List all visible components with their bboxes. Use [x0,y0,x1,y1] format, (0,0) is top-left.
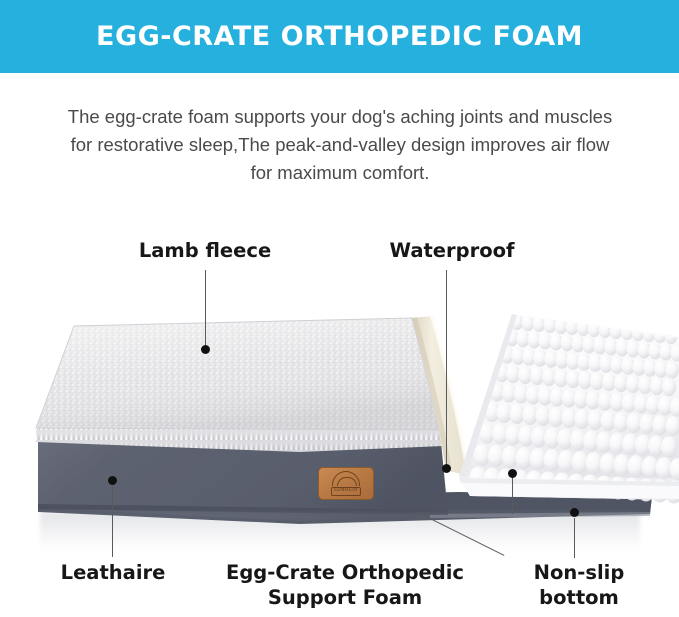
leader-line-lamb-fleece [205,270,206,350]
brand-tag: SUNHEIR [318,467,374,500]
callout-dot-lamb-fleece [201,345,210,354]
callout-label-waterproof: Waterproof [372,238,532,263]
callout-label-non-slip-bottom: Non-slip bottom [512,560,646,610]
callout-label-leathaire: Leathaire [38,560,188,585]
callout-label-egg-crate-foam: Egg-Crate Orthopedic Support Foam [205,560,485,610]
callout-label-lamb-fleece: Lamb fleece [125,238,285,263]
callout-dot-egg-crate [508,469,517,478]
description-text: The egg-crate foam supports your dog's a… [60,103,620,187]
callout-dot-leathaire [108,476,117,485]
callout-dot-waterproof [442,464,451,473]
leader-line-non-slip-bottom [574,518,575,558]
leader-line-waterproof [446,270,447,468]
leader-line-leathaire [112,484,113,557]
fleece-top-shading [36,318,440,430]
header-banner: EGG-CRATE ORTHOPEDIC FOAM [0,0,679,73]
callout-dot-non-slip-bottom [570,508,579,517]
page-title: EGG-CRATE ORTHOPEDIC FOAM [96,21,583,52]
leader-line-egg-crate-vertical [512,477,513,514]
brand-name: SUNHEIR [331,487,362,496]
sunrise-arch-logo-icon [332,471,360,486]
bed-shadow [40,512,640,550]
